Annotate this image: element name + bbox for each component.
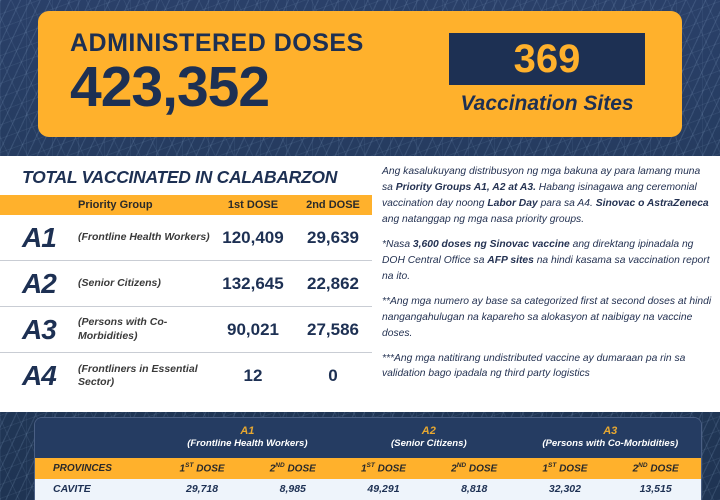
note1-part-d: Labor Day bbox=[487, 198, 537, 209]
subheader-a3-dose1: 1ST DOSE bbox=[520, 462, 611, 474]
group-code: A2 bbox=[338, 424, 519, 438]
dose-ordinal: ND bbox=[638, 462, 647, 469]
header-cell-dose2: 2nd DOSE bbox=[294, 199, 372, 211]
note1-part-g: ang natanggap ng mga nasa priority group… bbox=[382, 214, 584, 225]
row-dose1: 132,645 bbox=[212, 274, 294, 294]
dose-word: DOSE bbox=[556, 463, 587, 474]
vaccination-sites-block: 369 Vaccination Sites bbox=[449, 33, 645, 116]
row-code: A1 bbox=[0, 222, 78, 254]
table-row: CAVITE 29,718 8,985 49,291 8,818 32,302 … bbox=[35, 479, 701, 500]
note1-part-f: Sinovac o AstraZeneca bbox=[596, 198, 709, 209]
province-a3-dose2: 13,515 bbox=[610, 483, 701, 495]
row-dose2: 22,862 bbox=[294, 274, 372, 294]
row-dose1: 12 bbox=[212, 366, 294, 386]
dose-ordinal: ST bbox=[367, 462, 375, 469]
dose-word: DOSE bbox=[193, 463, 224, 474]
subheader-provinces-label: PROVINCES bbox=[35, 463, 157, 474]
table-row: A2 (Senior Citizens) 132,645 22,862 bbox=[0, 261, 372, 307]
note1-part-e: para sa A4. bbox=[538, 198, 596, 209]
group-subtitle: (Frontline Health Workers) bbox=[157, 438, 338, 450]
group-code: A3 bbox=[520, 424, 701, 438]
province-a3-dose1: 32,302 bbox=[520, 483, 611, 495]
dose-ordinal: ND bbox=[275, 462, 284, 469]
note2-part-d: AFP sites bbox=[487, 255, 534, 266]
group-header-a1: A1 (Frontline Health Workers) bbox=[157, 424, 338, 451]
group-header-spacer bbox=[35, 424, 157, 451]
table-row: A3 (Persons with Co-Morbidities) 90,021 … bbox=[0, 307, 372, 353]
row-code: A4 bbox=[0, 360, 78, 392]
group-subtitle: (Senior Citizens) bbox=[338, 438, 519, 450]
province-a1-dose2: 8,985 bbox=[247, 483, 338, 495]
dose-ordinal: ND bbox=[457, 462, 466, 469]
note-paragraph-2: *Nasa 3,600 doses ng Sinovac vaccine ang… bbox=[382, 237, 712, 285]
province-a2-dose2: 8,818 bbox=[429, 483, 520, 495]
row-dose1: 90,021 bbox=[212, 320, 294, 340]
dose-word: DOSE bbox=[466, 463, 497, 474]
note-paragraph-4: ***Ang mga natitirang undistributed vacc… bbox=[382, 351, 712, 383]
vaccination-sites-box: 369 bbox=[449, 33, 645, 85]
province-breakdown-table: A1 (Frontline Health Workers) A2 (Senior… bbox=[34, 417, 702, 500]
group-code: A1 bbox=[157, 424, 338, 438]
administered-doses-value: 423,352 bbox=[70, 58, 443, 118]
dose-word: DOSE bbox=[285, 463, 316, 474]
subheader-a3-dose2: 2ND DOSE bbox=[610, 462, 701, 474]
dose-word: DOSE bbox=[375, 463, 406, 474]
table-row: A4 (Frontliners in Essential Sector) 12 … bbox=[0, 353, 372, 399]
note-paragraph-3: **Ang mga numero ay base sa categorized … bbox=[382, 294, 712, 342]
group-subtitle: (Persons with Co-Morbidities) bbox=[520, 438, 701, 450]
summary-panel: TOTAL VACCINATED IN CALABARZON Priority … bbox=[0, 156, 720, 412]
note2-part-a: *Nasa bbox=[382, 239, 413, 250]
administered-doses-label: ADMINISTERED DOSES bbox=[70, 31, 443, 56]
group-header-a2: A2 (Senior Citizens) bbox=[338, 424, 519, 451]
row-dose1: 120,409 bbox=[212, 228, 294, 248]
total-vaccinated-title: TOTAL VACCINATED IN CALABARZON bbox=[0, 156, 372, 195]
row-dose2: 27,586 bbox=[294, 320, 372, 340]
vaccination-sites-caption: Vaccination Sites bbox=[449, 92, 645, 116]
dose-word: DOSE bbox=[648, 463, 679, 474]
header-cell-dose1: 1st DOSE bbox=[212, 199, 294, 211]
subheader-a1-dose2: 2ND DOSE bbox=[247, 462, 338, 474]
province-a2-dose1: 49,291 bbox=[338, 483, 429, 495]
administered-doses-block: ADMINISTERED DOSES 423,352 bbox=[38, 31, 443, 118]
note-paragraph-1: Ang kasalukuyang distribusyon ng mga bak… bbox=[382, 164, 712, 228]
group-header-a3: A3 (Persons with Co-Morbidities) bbox=[520, 424, 701, 451]
table-row: A1 (Frontline Health Workers) 120,409 29… bbox=[0, 215, 372, 261]
header-cell-priority-group: Priority Group bbox=[78, 199, 212, 211]
row-group: (Persons with Co-Morbidities) bbox=[78, 316, 212, 342]
row-group: (Senior Citizens) bbox=[78, 277, 212, 290]
vaccination-sites-count: 369 bbox=[514, 39, 581, 79]
province-subheader-row: PROVINCES 1ST DOSE 2ND DOSE 1ST DOSE 2ND… bbox=[35, 458, 701, 479]
row-code: A3 bbox=[0, 314, 78, 346]
row-group: (Frontliners in Essential Sector) bbox=[78, 363, 212, 389]
note2-part-b: 3,600 doses ng Sinovac vaccine bbox=[413, 239, 570, 250]
row-group: (Frontline Health Workers) bbox=[78, 231, 212, 244]
total-vaccinated-table: TOTAL VACCINATED IN CALABARZON Priority … bbox=[0, 156, 372, 399]
row-code: A2 bbox=[0, 268, 78, 300]
header-summary-card: ADMINISTERED DOSES 423,352 369 Vaccinati… bbox=[38, 11, 682, 137]
subheader-a2-dose1: 1ST DOSE bbox=[338, 462, 429, 474]
total-vaccinated-header-row: Priority Group 1st DOSE 2nd DOSE bbox=[0, 195, 372, 215]
subheader-a2-dose2: 2ND DOSE bbox=[429, 462, 520, 474]
province-a1-dose1: 29,718 bbox=[157, 483, 248, 495]
province-name: CAVITE bbox=[35, 483, 157, 495]
notes-block: Ang kasalukuyang distribusyon ng mga bak… bbox=[382, 164, 712, 391]
note1-part-b: Priority Groups A1, A2 at A3. bbox=[396, 182, 536, 193]
row-dose2: 29,639 bbox=[294, 228, 372, 248]
subheader-a1-dose1: 1ST DOSE bbox=[157, 462, 248, 474]
province-group-header: A1 (Frontline Health Workers) A2 (Senior… bbox=[35, 418, 701, 458]
row-dose2: 0 bbox=[294, 366, 372, 386]
